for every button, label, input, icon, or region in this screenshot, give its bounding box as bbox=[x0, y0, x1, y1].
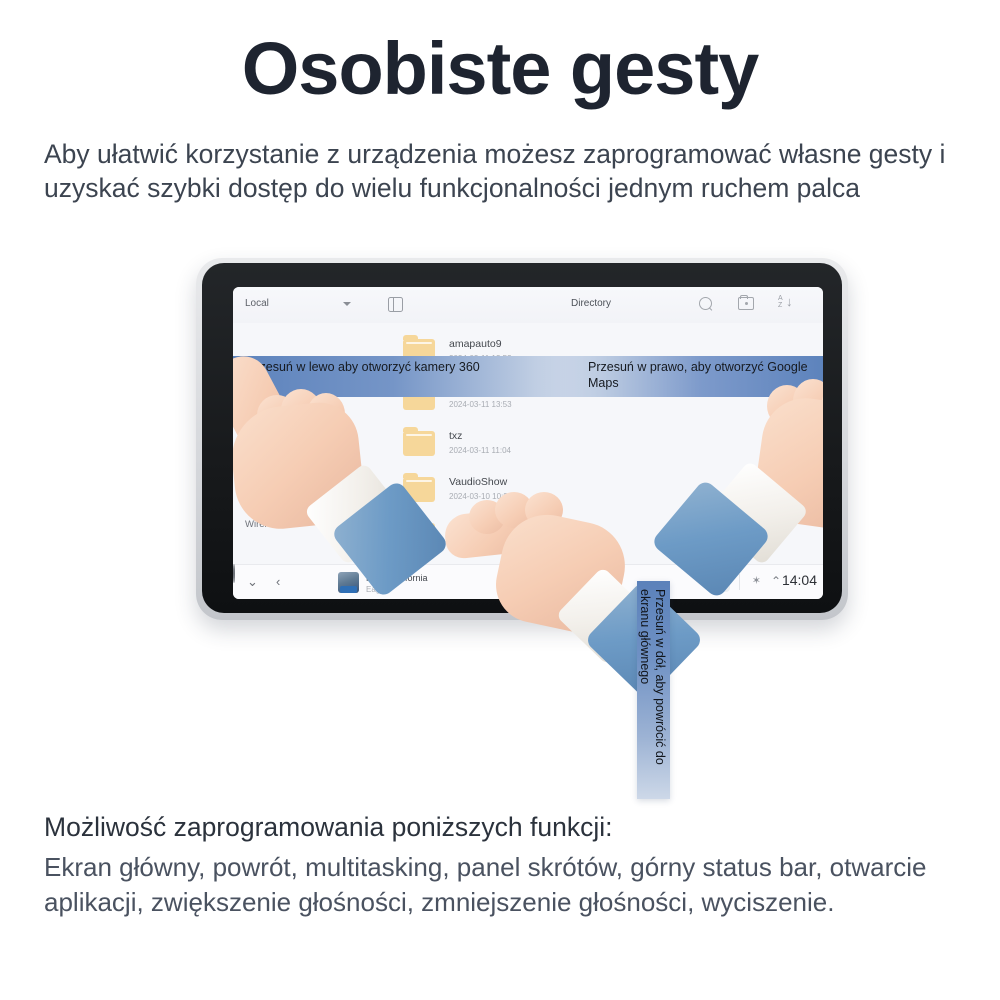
sort-arrow: ↓ bbox=[786, 295, 793, 308]
footer-title: Możliwość zaprogramowania poniższych fun… bbox=[44, 812, 974, 843]
search-icon[interactable] bbox=[699, 297, 712, 310]
file-date: 2024-03-11 11:04 bbox=[449, 446, 511, 455]
footer-body: Ekran główny, powrót, multitasking, pane… bbox=[44, 850, 989, 919]
source-selector-label[interactable]: Local bbox=[245, 298, 269, 309]
chevron-down-icon[interactable] bbox=[343, 302, 351, 306]
hand-swipe-down bbox=[451, 486, 711, 716]
page-title: Osobiste gesty bbox=[0, 32, 1000, 106]
new-folder-icon[interactable] bbox=[738, 297, 754, 310]
directory-label: Directory bbox=[571, 298, 611, 309]
sort-letter-z: Z bbox=[778, 302, 782, 309]
file-name: txz bbox=[449, 430, 462, 442]
file-name: amapauto9 bbox=[449, 338, 502, 350]
sort-letter-a: A bbox=[778, 295, 783, 302]
page-subtitle: Aby ułatwić korzystanie z urządzenia moż… bbox=[44, 138, 974, 206]
tablet-illustration: Local Directory A Z ↓ US... Wireles... bbox=[196, 258, 848, 630]
file-date: 2024-03-11 13:53 bbox=[449, 400, 512, 409]
file-manager-toolbar: Local Directory A Z ↓ bbox=[233, 287, 823, 323]
gesture-banner-down: Przesuń w dół, aby powrócić do ekranu gł… bbox=[637, 581, 670, 799]
split-panel-icon[interactable] bbox=[388, 297, 403, 312]
hand-swipe-left bbox=[233, 347, 451, 599]
gesture-banner-down-text: Przesuń w dół, aby powrócić do ekranu gł… bbox=[637, 581, 670, 799]
sort-az-icon[interactable]: A Z ↓ bbox=[778, 295, 794, 311]
